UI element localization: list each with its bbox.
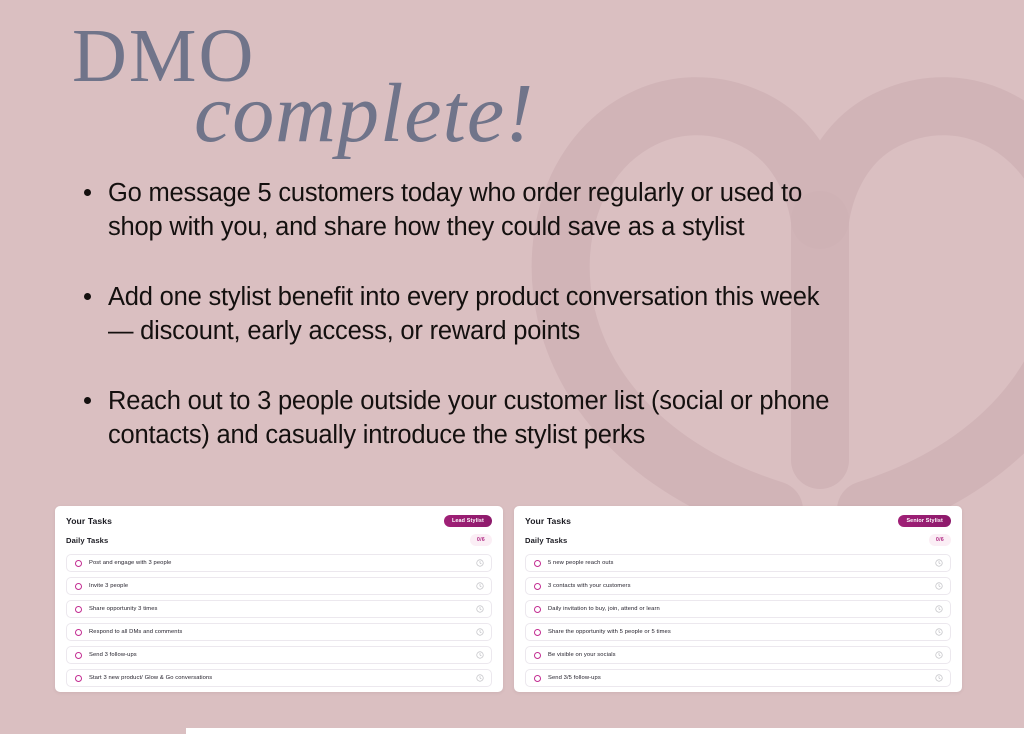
task-list: Post and engage with 3 people Invite 3 p… xyxy=(66,554,492,687)
clock-icon[interactable] xyxy=(935,605,943,613)
page-title: DMO complete! xyxy=(72,18,692,149)
task-card-senior-stylist: Your Tasks Senior Stylist Daily Tasks 0/… xyxy=(514,506,962,692)
task-list: 5 new people reach outs 3 contacts with … xyxy=(525,554,951,687)
checkbox-circle-icon[interactable] xyxy=(534,560,541,567)
clock-icon[interactable] xyxy=(935,674,943,682)
progress-counter: 0/6 xyxy=(470,534,492,546)
bullet-item-1: Go message 5 customers today who order r… xyxy=(78,176,838,245)
checkbox-circle-icon[interactable] xyxy=(534,652,541,659)
checkbox-circle-icon[interactable] xyxy=(75,560,82,567)
checkbox-circle-icon[interactable] xyxy=(534,606,541,613)
task-row[interactable]: Share opportunity 3 times xyxy=(66,600,492,618)
task-row[interactable]: Respond to all DMs and comments xyxy=(66,623,492,641)
task-cards-row: Your Tasks Lead Stylist Daily Tasks 0/6 … xyxy=(55,506,970,692)
checkbox-circle-icon[interactable] xyxy=(75,652,82,659)
task-row[interactable]: Send 3 follow-ups xyxy=(66,646,492,664)
task-label: 5 new people reach outs xyxy=(548,560,935,566)
task-label: 3 contacts with your customers xyxy=(548,583,935,589)
clock-icon[interactable] xyxy=(935,628,943,636)
task-label: Share opportunity 3 times xyxy=(89,606,476,612)
clock-icon[interactable] xyxy=(476,651,484,659)
checkbox-circle-icon[interactable] xyxy=(534,675,541,682)
card-header: Your Tasks Lead Stylist xyxy=(66,515,492,527)
checkbox-circle-icon[interactable] xyxy=(75,606,82,613)
task-label: Send 3 follow-ups xyxy=(89,652,476,658)
task-row[interactable]: Be visible on your socials xyxy=(525,646,951,664)
task-card-lead-stylist: Your Tasks Lead Stylist Daily Tasks 0/6 … xyxy=(55,506,503,692)
checkbox-circle-icon[interactable] xyxy=(534,583,541,590)
task-label: Share the opportunity with 5 people or 5… xyxy=(548,629,935,635)
task-row[interactable]: 5 new people reach outs xyxy=(525,554,951,572)
card-subheader: Daily Tasks 0/6 xyxy=(66,534,492,546)
card-header: Your Tasks Senior Stylist xyxy=(525,515,951,527)
task-label: Respond to all DMs and comments xyxy=(89,629,476,635)
task-row[interactable]: Start 3 new product/ Glow & Go conversat… xyxy=(66,669,492,687)
title-line-2: complete! xyxy=(194,80,692,149)
task-label: Start 3 new product/ Glow & Go conversat… xyxy=(89,675,476,681)
clock-icon[interactable] xyxy=(476,605,484,613)
task-label: Send 3/5 follow-ups xyxy=(548,675,935,681)
clock-icon[interactable] xyxy=(476,582,484,590)
task-row[interactable]: Post and engage with 3 people xyxy=(66,554,492,572)
bullet-list: Go message 5 customers today who order r… xyxy=(78,176,838,453)
section-title: Daily Tasks xyxy=(525,536,567,545)
bullet-item-2: Add one stylist benefit into every produ… xyxy=(78,280,838,349)
card-title: Your Tasks xyxy=(525,516,571,526)
task-row[interactable]: 3 contacts with your customers xyxy=(525,577,951,595)
clock-icon[interactable] xyxy=(476,628,484,636)
card-subheader: Daily Tasks 0/6 xyxy=(525,534,951,546)
bullet-item-3: Reach out to 3 people outside your custo… xyxy=(78,384,838,453)
clock-icon[interactable] xyxy=(476,559,484,567)
task-label: Daily invitation to buy, join, attend or… xyxy=(548,606,935,612)
clock-icon[interactable] xyxy=(935,559,943,567)
task-label: Post and engage with 3 people xyxy=(89,560,476,566)
clock-icon[interactable] xyxy=(476,674,484,682)
task-label: Be visible on your socials xyxy=(548,652,935,658)
checkbox-circle-icon[interactable] xyxy=(75,675,82,682)
checkbox-circle-icon[interactable] xyxy=(75,629,82,636)
task-row[interactable]: Send 3/5 follow-ups xyxy=(525,669,951,687)
clock-icon[interactable] xyxy=(935,582,943,590)
slide-page: DMO complete! Go message 5 customers tod… xyxy=(0,0,1024,734)
role-badge[interactable]: Senior Stylist xyxy=(898,515,951,527)
section-title: Daily Tasks xyxy=(66,536,108,545)
task-label: Invite 3 people xyxy=(89,583,476,589)
clock-icon[interactable] xyxy=(935,651,943,659)
task-row[interactable]: Daily invitation to buy, join, attend or… xyxy=(525,600,951,618)
card-title: Your Tasks xyxy=(66,516,112,526)
checkbox-circle-icon[interactable] xyxy=(75,583,82,590)
task-row[interactable]: Invite 3 people xyxy=(66,577,492,595)
bottom-white-strip xyxy=(186,728,1024,734)
role-badge[interactable]: Lead Stylist xyxy=(444,515,492,527)
task-row[interactable]: Share the opportunity with 5 people or 5… xyxy=(525,623,951,641)
progress-counter: 0/6 xyxy=(929,534,951,546)
checkbox-circle-icon[interactable] xyxy=(534,629,541,636)
